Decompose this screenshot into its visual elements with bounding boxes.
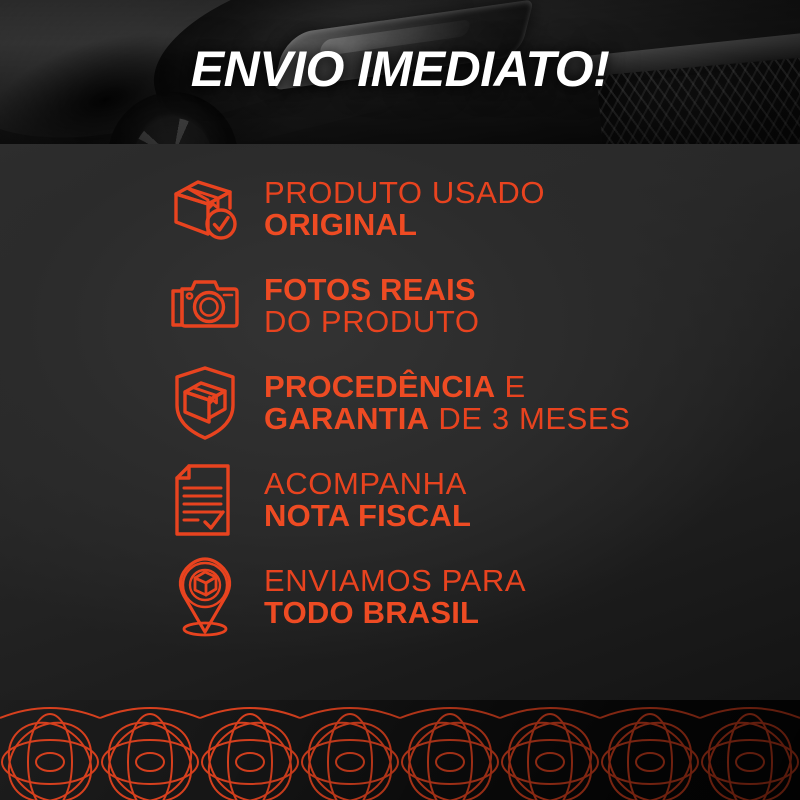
feature-text: PRODUTO USADO ORIGINAL	[264, 177, 545, 240]
box-check-icon	[162, 172, 248, 246]
feature-line-1: PRODUTO USADO	[264, 177, 545, 209]
feature-text: ACOMPANHA NOTA FISCAL	[264, 468, 471, 531]
feature-line-2: DO PRODUTO	[264, 306, 480, 338]
promotional-banner: ENVIO IMEDIATO! PRODUTO USADO	[0, 0, 800, 800]
feature-text: FOTOS REAIS DO PRODUTO	[264, 274, 480, 337]
features-list: PRODUTO USADO ORIGINAL	[0, 160, 800, 645]
document-check-icon	[162, 462, 248, 538]
camera-icon	[162, 273, 248, 339]
feature-line-2: ORIGINAL	[264, 209, 545, 241]
feature-line-2: TODO BRASIL	[264, 597, 526, 629]
feature-item-nota-fiscal: ACOMPANHA NOTA FISCAL	[0, 451, 800, 548]
decorative-footer-pattern	[0, 700, 800, 800]
feature-line-1: PROCEDÊNCIA E	[264, 371, 630, 403]
feature-item-fotos-reais: FOTOS REAIS DO PRODUTO	[0, 257, 800, 354]
shield-box-icon	[162, 364, 248, 442]
feature-text: ENVIAMOS PARA TODO BRASIL	[264, 565, 526, 628]
feature-item-todo-brasil: ENVIAMOS PARA TODO BRASIL	[0, 548, 800, 645]
location-pin-box-icon	[162, 556, 248, 638]
feature-item-procedencia-garantia: PROCEDÊNCIA E GARANTIA DE 3 MESES	[0, 354, 800, 451]
page-title: ENVIO IMEDIATO!	[0, 44, 800, 94]
feature-text: PROCEDÊNCIA E GARANTIA DE 3 MESES	[264, 371, 630, 434]
banner-header: ENVIO IMEDIATO!	[0, 0, 800, 144]
feature-line-1-light: E	[495, 369, 526, 404]
feature-line-2: NOTA FISCAL	[264, 500, 471, 532]
feature-line-1: ENVIAMOS PARA	[264, 565, 526, 597]
feature-line-2-bold: GARANTIA	[264, 401, 429, 436]
feature-line-1: FOTOS REAIS	[264, 274, 480, 306]
feature-item-produto-usado: PRODUTO USADO ORIGINAL	[0, 160, 800, 257]
feature-line-1: ACOMPANHA	[264, 468, 471, 500]
geometric-floral-border-icon	[0, 700, 800, 800]
feature-line-1-bold: PROCEDÊNCIA	[264, 369, 495, 404]
feature-line-2: GARANTIA DE 3 MESES	[264, 403, 630, 435]
features-section: PRODUTO USADO ORIGINAL	[0, 144, 800, 700]
feature-line-2-light: DE 3 MESES	[429, 401, 630, 436]
